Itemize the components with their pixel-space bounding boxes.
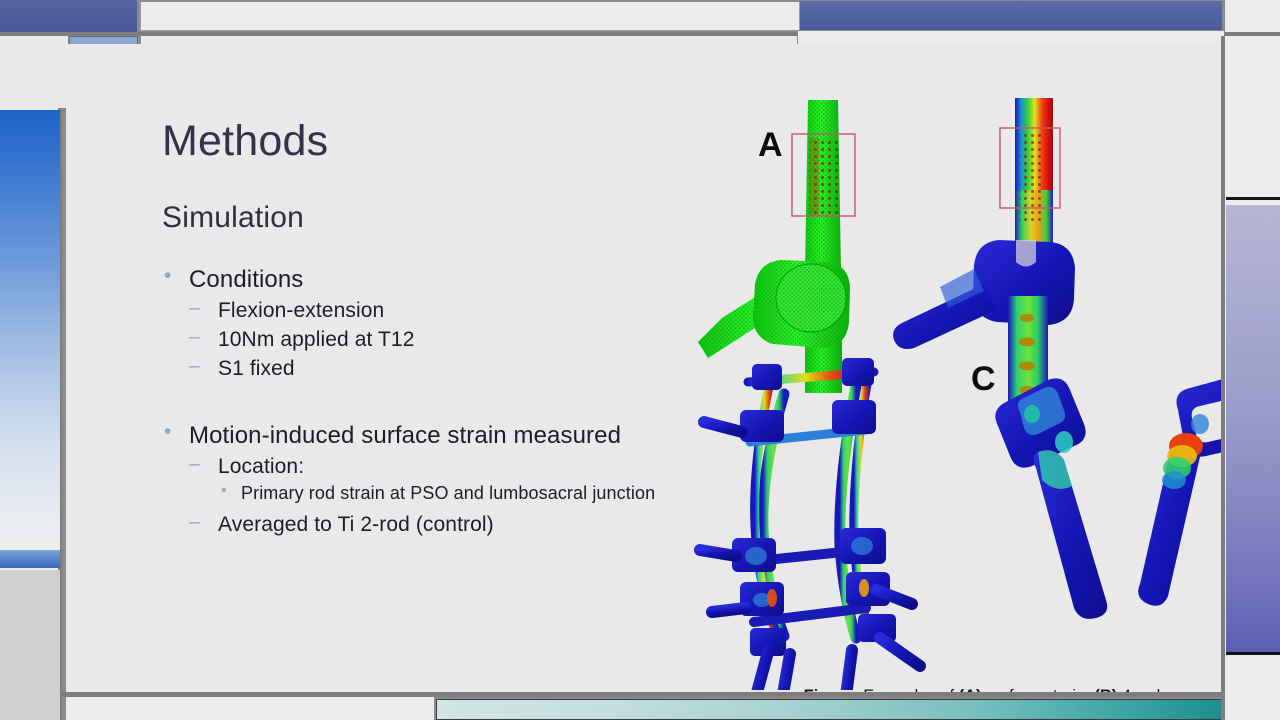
page-title: Methods (162, 119, 667, 164)
bullet-text: Motion-induced surface strain measured (189, 421, 667, 450)
caption-tag-a: (A) (959, 687, 982, 692)
bullet-text: Flexion-extension (218, 299, 384, 322)
caption-tag-b: (B) (1094, 687, 1117, 692)
right-rail-top-panel (1226, 40, 1280, 200)
caption-part3: 4-rod (1117, 687, 1160, 692)
figure-column: A B C (686, 90, 1221, 692)
presentation-slide: Methods Simulation Conditions Flexion-ex… (66, 44, 1221, 692)
slide-subtitle: Simulation (162, 201, 667, 235)
bullet-text: Location: (218, 455, 304, 478)
left-scrollbar-gradient[interactable] (0, 110, 60, 550)
list-item: S1 fixed (189, 355, 667, 383)
titlebar-accent-right[interactable] (800, 1, 1222, 32)
bullet-text: Primary rod strain at PSO and lumbosacra… (241, 483, 655, 503)
tab-strip-left (0, 36, 68, 108)
list-item: Flexion-extension (189, 297, 667, 325)
titlebar-right-cap (1225, 0, 1280, 32)
bullet-list-level2: Flexion-extension 10Nm applied at T12 S1… (189, 297, 667, 383)
bullet-list-level3: Primary rod strain at PSO and lumbosacra… (218, 483, 667, 505)
bullet-list-level1: Conditions Flexion-extension 10Nm applie… (162, 265, 667, 539)
bullet-list-level2: Location: Primary rod strain at PSO and … (189, 453, 667, 539)
statusbar-progress-bar[interactable] (436, 699, 1221, 720)
panel-a-green-mesh (698, 100, 855, 393)
left-scrollbar-thumb[interactable] (0, 550, 60, 568)
figure-caption: Figure. Examples of (A) surface strain; … (752, 686, 1212, 692)
list-item: 10Nm applied at T12 (189, 326, 667, 354)
caption-lead: Figure. (804, 687, 859, 692)
panel-b-construct (700, 358, 920, 690)
statusbar-left-pane (66, 697, 434, 720)
list-item: Conditions Flexion-extension 10Nm applie… (162, 265, 667, 383)
titlebar-pane (140, 2, 800, 31)
bullet-spacer (162, 387, 667, 421)
titlebar-accent-left (0, 0, 137, 32)
bullet-text: 10Nm applied at T12 (218, 328, 414, 351)
list-item: Motion-induced surface strain measured L… (162, 421, 667, 539)
screen-root: Methods Simulation Conditions Flexion-ex… (0, 0, 1280, 720)
bullet-text: Conditions (189, 265, 667, 294)
bullet-text: S1 fixed (218, 357, 295, 380)
panel-a-strain-contour (893, 98, 1075, 408)
caption-part1: Examples of (859, 687, 959, 692)
panel-c-screws (995, 375, 1221, 619)
list-item: Averaged to Ti 2-rod (control) (189, 511, 667, 539)
list-item: Primary rod strain at PSO and lumbosacra… (218, 483, 667, 505)
right-scrollbar-gradient[interactable] (1226, 205, 1280, 655)
caption-part2: surface strain; (982, 687, 1095, 692)
left-rail-footer (0, 570, 60, 720)
slide-text-column: Methods Simulation Conditions Flexion-ex… (162, 119, 667, 543)
list-item: Location: Primary rod strain at PSO and … (189, 453, 667, 505)
fea-figure-graphic (686, 90, 1221, 690)
bullet-text: Averaged to Ti 2-rod (control) (218, 513, 494, 536)
